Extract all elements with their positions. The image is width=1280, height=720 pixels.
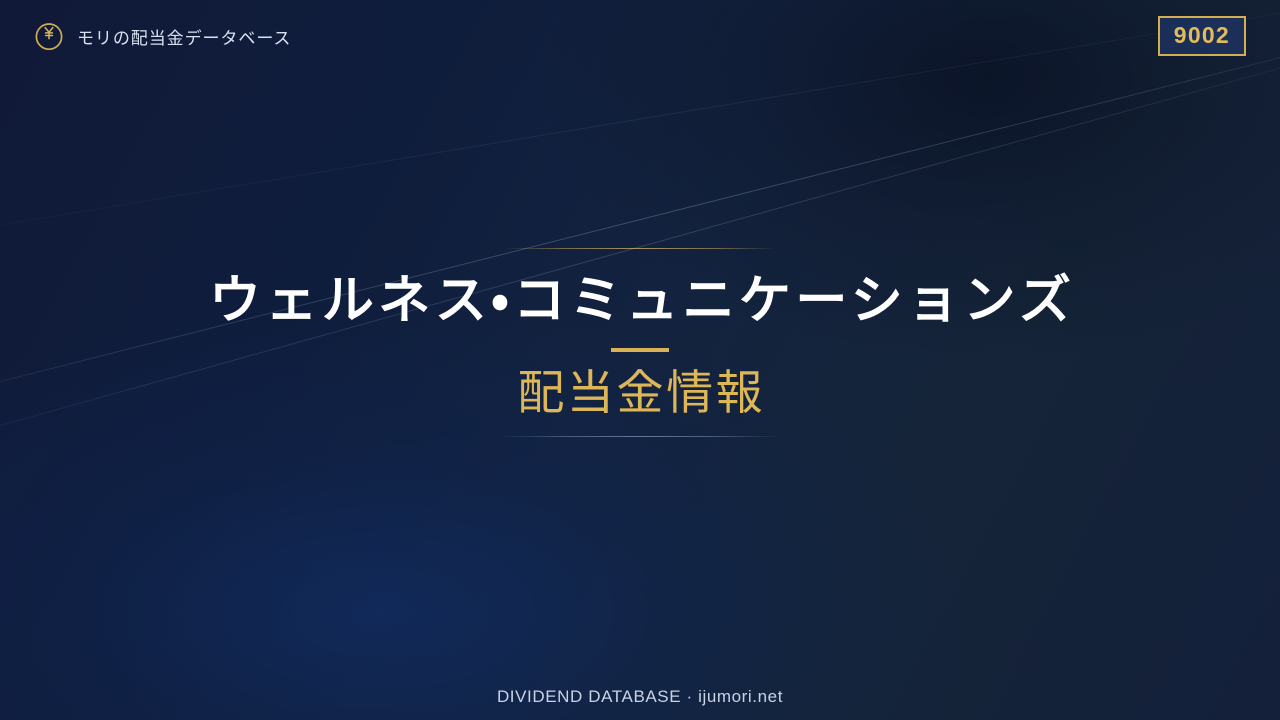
company-name: ウェルネス・コミュニケーションズ: [205, 271, 1076, 332]
footer-text: DIVIDEND DATABASE · ijumori.net: [0, 687, 1280, 707]
divider-top: [504, 248, 776, 249]
page-subtitle: 配当金情報: [515, 366, 766, 420]
brand[interactable]: モリの配当金データベース: [34, 21, 291, 51]
gold-accent-dash: [611, 348, 669, 352]
brand-title: モリの配当金データベース: [77, 24, 291, 49]
title-block: ウェルネス・コミュニケーションズ 配当金情報: [0, 248, 1280, 437]
yen-circle-icon: [34, 21, 64, 51]
title-slide: モリの配当金データベース 9002 ウェルネス・コミュニケーションズ 配当金情報…: [0, 0, 1280, 720]
ticker-code-badge: 9002: [1158, 16, 1246, 56]
divider-bottom: [500, 436, 780, 437]
page-header: モリの配当金データベース 9002: [0, 0, 1280, 72]
